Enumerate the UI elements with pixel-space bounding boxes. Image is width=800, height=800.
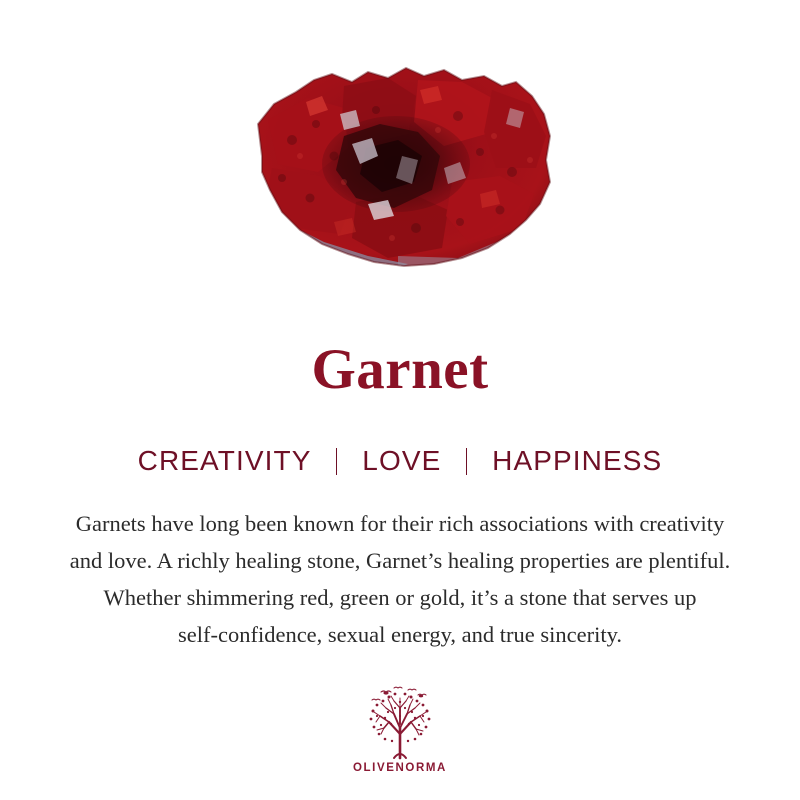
description-paragraph: Garnets have long been known for their r… (22, 505, 778, 653)
page-title: Garnet (0, 338, 800, 402)
keyword-separator-1 (336, 448, 337, 475)
description-line: Whether shimmering red, green or gold, i… (22, 579, 778, 616)
brand-name: OLIVENORMA (353, 762, 447, 774)
keyword-love: LOVE (362, 444, 441, 478)
description-line: self-confidence, sexual energy, and true… (22, 616, 778, 653)
bird-icons (372, 687, 426, 700)
description-line: and love. A richly healing stone, Garnet… (22, 542, 778, 579)
description-line: Garnets have long been known for their r… (22, 505, 778, 542)
brand-logo: OLIVENORMA (0, 684, 800, 774)
tree-icon (361, 684, 439, 760)
keyword-creativity: CREATIVITY (138, 444, 312, 478)
garnet-stone-illustration (248, 52, 560, 278)
keyword-happiness: HAPPINESS (492, 444, 662, 478)
keyword-list: CREATIVITY LOVE HAPPINESS (0, 444, 800, 478)
garnet-stone-image (248, 52, 560, 278)
keyword-separator-2 (466, 448, 467, 475)
garnet-info-card: Garnet CREATIVITY LOVE HAPPINESS Garnets… (0, 0, 800, 800)
